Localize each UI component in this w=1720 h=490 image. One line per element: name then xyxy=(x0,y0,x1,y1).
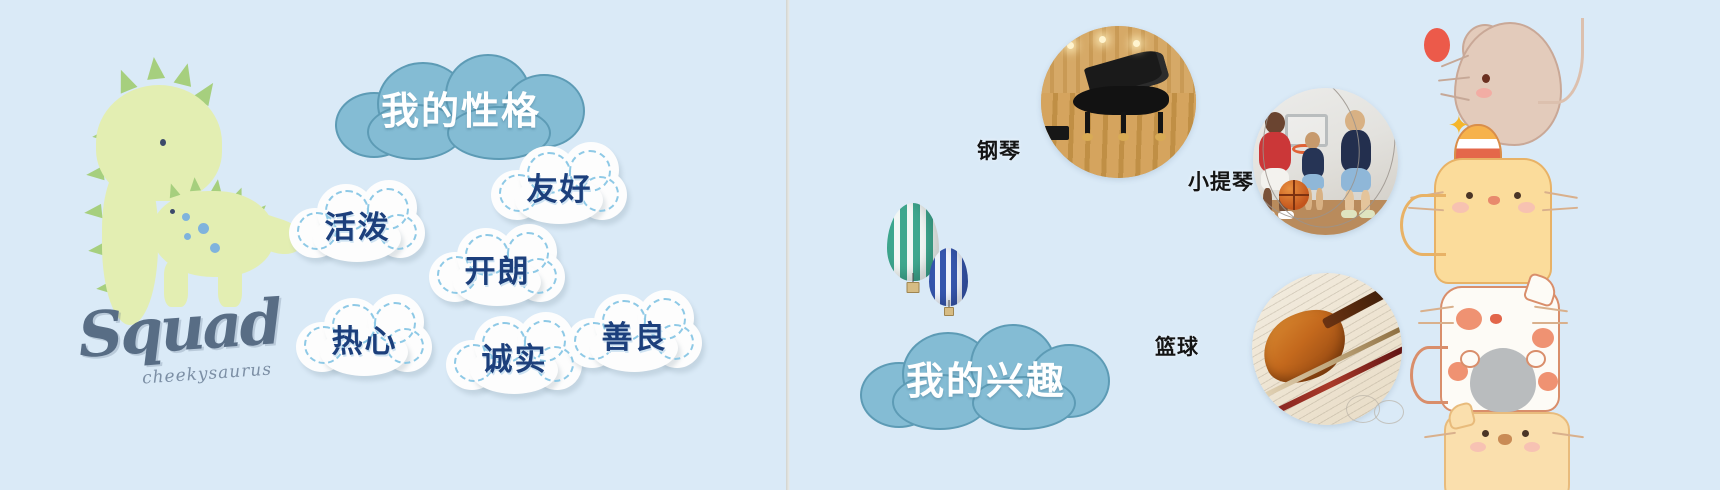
title-cloud-interests: 我的兴趣 xyxy=(852,322,1120,432)
photo-tag-piano: 钢琴 xyxy=(977,135,1021,165)
cloud-dash-outline xyxy=(386,328,424,364)
sparkle-icon: ✦ xyxy=(1448,112,1470,138)
cat-yellow-body xyxy=(1434,158,1552,284)
trait-cloud-rexin: 热心 xyxy=(294,292,435,384)
cat-eye xyxy=(1514,192,1521,199)
cloud-dash-outline xyxy=(465,234,509,276)
cat-cheek xyxy=(1518,202,1535,213)
dino-spike-icon xyxy=(83,204,102,220)
mouse-tail xyxy=(1538,18,1584,104)
slide-canvas: Squad cheekysaurus 我的性格 友好 xyxy=(0,0,1720,490)
piano-leg xyxy=(1085,112,1090,137)
cloud-puff xyxy=(972,376,1076,430)
slide-interests: 钢琴 xyxy=(790,0,1720,490)
dino-eye xyxy=(170,209,175,214)
cat-whisker xyxy=(1532,322,1568,324)
cat-nose xyxy=(1488,196,1500,205)
cat-paw xyxy=(1460,350,1480,368)
photo-tag-violin: 小提琴 xyxy=(1188,166,1254,196)
cat-cheek xyxy=(1524,442,1540,452)
cloud-dash-outline xyxy=(527,152,571,194)
dino-spot xyxy=(184,233,191,240)
cloud-dash-outline xyxy=(482,322,526,364)
trait-cloud-shanliang: 善良 xyxy=(564,288,705,380)
balloon-envelope xyxy=(929,248,968,306)
cat-stack-illustration: ✦ xyxy=(1404,110,1604,450)
dino-spike-icon xyxy=(189,177,201,191)
cloud-dash-outline xyxy=(332,304,376,346)
piano-bench xyxy=(1041,126,1069,140)
balloon-basket xyxy=(907,282,920,293)
dino-spike-icon xyxy=(145,56,165,80)
cat-eye xyxy=(1466,192,1473,199)
dino-eye xyxy=(160,139,166,146)
cloud-dash-outline xyxy=(379,214,417,250)
dino-spike-icon xyxy=(174,61,197,87)
red-ball-icon xyxy=(1424,28,1450,62)
mouse-cheek xyxy=(1476,88,1492,98)
cat-cheek xyxy=(1470,442,1486,452)
basketball-photo-inner xyxy=(1253,88,1398,235)
piano-leg xyxy=(1158,112,1163,137)
trait-cloud-huopo: 活泼 xyxy=(287,178,428,270)
kids-basketball-photo xyxy=(1253,88,1398,235)
dino-spot xyxy=(210,243,220,253)
photo-tag-basketball: 篮球 xyxy=(1155,331,1199,361)
trait-cloud-kailang: 开朗 xyxy=(427,222,568,314)
stage-light-icon xyxy=(1099,36,1106,43)
stage-light-icon xyxy=(1133,40,1140,47)
cat-eye xyxy=(1522,430,1529,437)
cat-nose xyxy=(1490,314,1502,324)
grand-piano-shape xyxy=(1066,59,1184,132)
cloud-dash-outline xyxy=(519,258,557,294)
slide-personality: Squad cheekysaurus 我的性格 友好 xyxy=(0,0,786,490)
cat-nose xyxy=(1498,434,1512,445)
cloud-dash-outline xyxy=(602,300,646,342)
stage-light-icon xyxy=(1067,42,1074,49)
kid-shoe xyxy=(1259,211,1275,219)
dino-spot xyxy=(182,213,190,221)
cat-cheek xyxy=(1452,202,1469,213)
cloud-dash-outline xyxy=(536,346,574,382)
mouse-eye xyxy=(1482,74,1490,83)
cat-whisker xyxy=(1418,322,1454,324)
cat-tail-curl xyxy=(1400,194,1446,256)
cat-patch xyxy=(1538,372,1558,391)
hot-air-balloon-blue xyxy=(929,248,968,306)
cat-patch xyxy=(1456,308,1482,330)
trait-cloud-youhao: 友好 xyxy=(489,140,630,232)
grand-piano-photo xyxy=(1041,26,1196,178)
brand-wordmark: Squad xyxy=(76,285,282,372)
cat-eye xyxy=(1482,430,1489,437)
cloud-dash-outline xyxy=(325,190,369,232)
cat-tail-curl xyxy=(1410,346,1448,404)
cat-paw xyxy=(1526,350,1546,368)
cat-patch xyxy=(1532,328,1554,348)
cloud-dash-outline xyxy=(581,176,619,212)
pencil-scribble xyxy=(1374,400,1404,424)
dino-spot xyxy=(198,223,209,234)
piano-photo-inner xyxy=(1041,26,1196,178)
balloon-basket xyxy=(944,307,954,316)
piano-body xyxy=(1073,86,1170,115)
piano-leg xyxy=(1121,112,1126,137)
cloud-dash-outline xyxy=(656,324,694,360)
